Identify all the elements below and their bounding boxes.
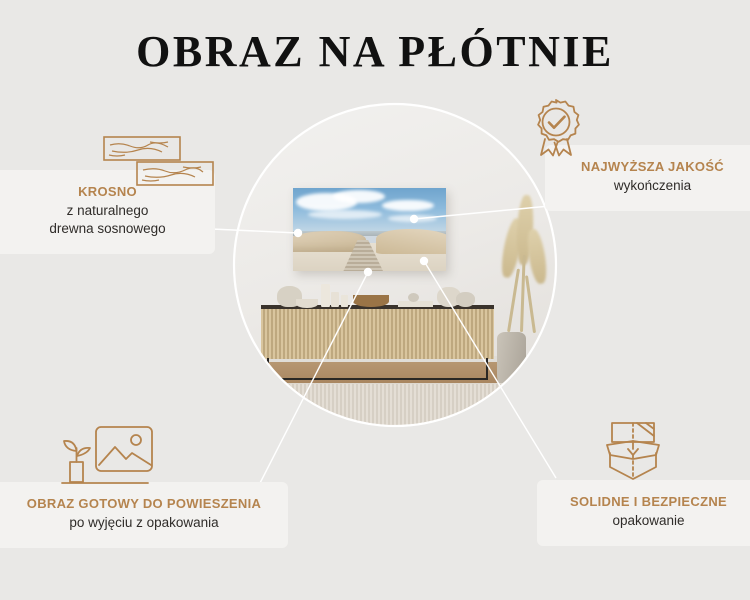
wood-planks-icon bbox=[103, 136, 215, 188]
artwork-dune-right bbox=[376, 229, 447, 254]
cloud-icon bbox=[308, 210, 382, 219]
product-scene-circle bbox=[235, 105, 555, 425]
feature-sub-jakosc-line1: wykończenia bbox=[555, 177, 750, 195]
area-rug bbox=[235, 383, 555, 425]
page-title: OBRAZ NA PŁÓTNIE bbox=[0, 26, 750, 77]
infographic-stage: OBRAZ NA PŁÓTNIE bbox=[0, 0, 750, 600]
feature-sub-opakowanie-line1: opakowanie bbox=[547, 512, 750, 530]
framed-picture-plant-icon bbox=[58, 424, 158, 490]
feature-sub-gotowy-line1: po wyjęciu z opakowania bbox=[10, 514, 278, 532]
feature-card-opakowanie: SOLIDNE I BEZPIECZNE opakowanie bbox=[537, 480, 750, 546]
stone-vase bbox=[497, 332, 526, 386]
room-scene bbox=[235, 105, 555, 425]
canvas-artwork bbox=[293, 188, 447, 271]
feature-heading-gotowy: OBRAZ GOTOWY DO POWIESZENIA bbox=[10, 496, 278, 511]
feature-sub-krosno-line1: z naturalnego bbox=[10, 202, 205, 220]
sideboard bbox=[261, 305, 495, 359]
candle bbox=[341, 295, 348, 306]
candle bbox=[321, 284, 329, 306]
ceramic-bowl bbox=[296, 299, 318, 308]
feature-heading-opakowanie: SOLIDNE I BEZPIECZNE bbox=[547, 494, 750, 509]
wooden-bowl bbox=[353, 295, 388, 307]
candle bbox=[331, 292, 339, 306]
sideboard-slats bbox=[261, 309, 495, 360]
ceramic-vase bbox=[456, 292, 475, 306]
open-box-icon bbox=[603, 420, 663, 482]
quality-badge-icon bbox=[525, 97, 587, 169]
feature-sub-krosno-line2: drewna sosnowego bbox=[10, 220, 205, 238]
sideboard-legs bbox=[267, 358, 488, 380]
cloud-icon bbox=[333, 190, 385, 203]
stacked-books bbox=[398, 301, 433, 307]
feature-card-gotowy: OBRAZ GOTOWY DO POWIESZENIA po wyjęciu z… bbox=[0, 482, 288, 548]
